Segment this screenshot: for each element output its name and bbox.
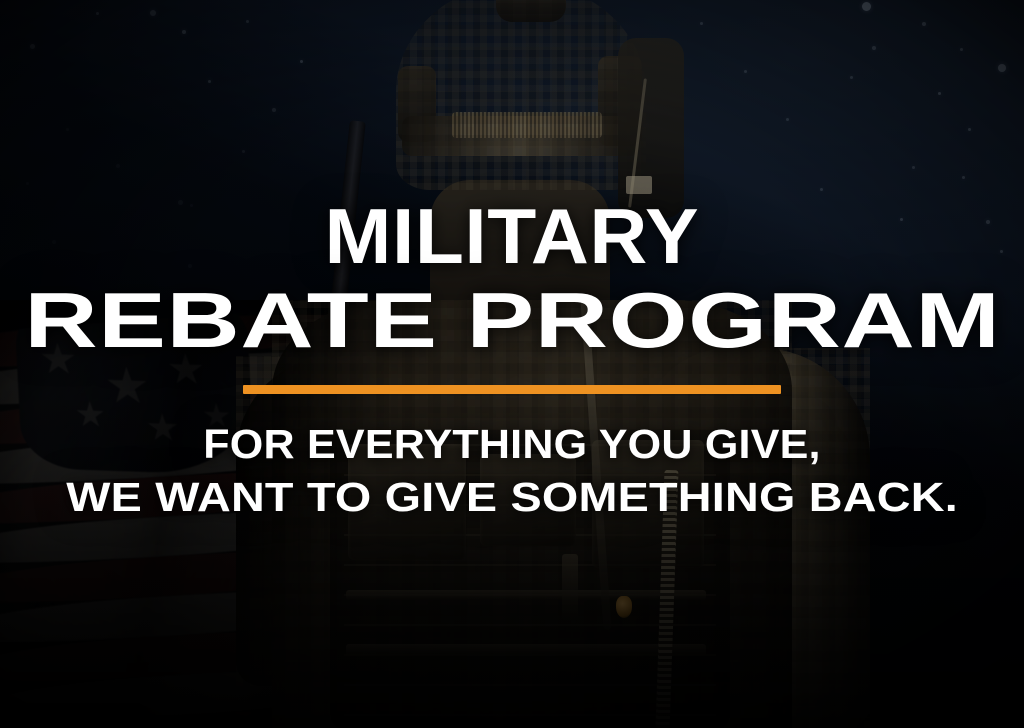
subhead-line-1: FOR EVERYTHING YOU GIVE, [203,424,820,465]
subhead-line-2: WE WANT TO GIVE SOMETHING BACK. [66,477,958,518]
banner-content: MILITARY REBATE PROGRAM FOR EVERYTHING Y… [0,0,1024,728]
military-rebate-banner: MILITARY REBATE PROGRAM FOR EVERYTHING Y… [0,0,1024,728]
headline-line-2: REBATE PROGRAM [24,282,1000,358]
headline-line-1: MILITARY [325,198,700,274]
orange-divider-rule [243,385,781,394]
